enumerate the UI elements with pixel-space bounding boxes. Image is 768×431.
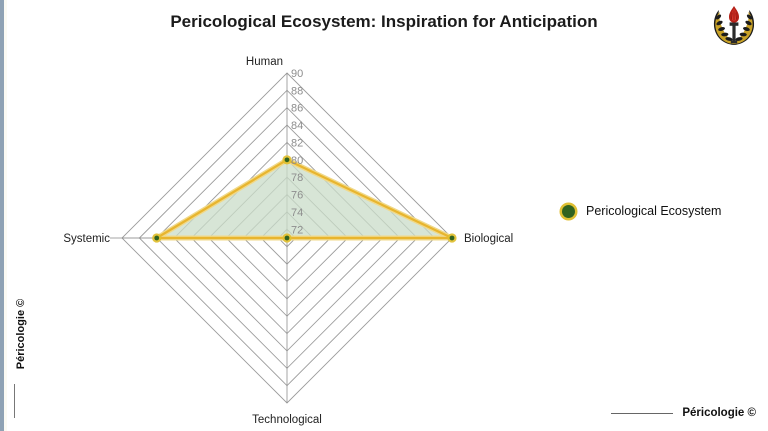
svg-text:78: 78 [291, 172, 303, 184]
radar-axis-label-human: Human [246, 56, 283, 68]
legend-entry-label: Pericological Ecosystem [586, 204, 721, 218]
legend-marker-icon [562, 205, 575, 218]
svg-text:72: 72 [291, 224, 303, 236]
radar-chart: 72747678808284868890 HumanBiologicalTech… [0, 0, 560, 431]
svg-text:74: 74 [291, 207, 303, 219]
svg-text:80: 80 [291, 155, 303, 167]
bottom-watermark-text: Péricologie © [682, 407, 756, 419]
radar-series-area [157, 160, 452, 238]
slide-root: Pericological Ecosystem: Inspiration for… [0, 0, 768, 431]
bottom-watermark: Péricologie © [611, 407, 756, 419]
radar-axis-label-technological: Technological [252, 414, 322, 426]
svg-text:84: 84 [291, 120, 303, 132]
svg-text:82: 82 [291, 137, 303, 149]
svg-text:90: 90 [291, 68, 303, 80]
svg-text:76: 76 [291, 190, 303, 202]
bottom-watermark-rule [611, 413, 673, 414]
radar-axis-label-systemic: Systemic [63, 233, 110, 245]
radar-axis-label-biological: Biological [464, 233, 513, 245]
svg-text:88: 88 [291, 85, 303, 97]
svg-text:86: 86 [291, 103, 303, 115]
torch-laurel-wreath-logo [710, 4, 758, 48]
chart-legend: Pericological Ecosystem [562, 204, 721, 218]
